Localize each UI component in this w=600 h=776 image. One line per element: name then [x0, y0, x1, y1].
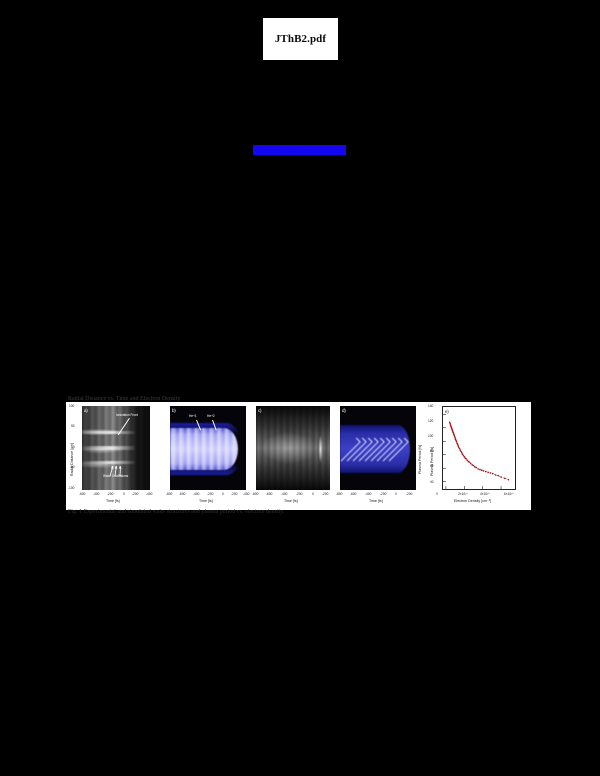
figure-caption: Fig. 1 Experimental and simulated wake s… [68, 509, 530, 516]
panel-a-ytick-2: 0 [73, 445, 75, 449]
panel-c-xtick-2: -400 [281, 492, 287, 496]
scatter-point [495, 474, 497, 476]
panel-c-plot: c) [256, 406, 330, 490]
panel-c-xtick-3: -200 [296, 492, 302, 496]
panel-e-ytick-80: 80 [430, 449, 434, 453]
panel-e-xtick-1: 2×10¹⁸ [458, 492, 468, 496]
panel-a-xlabel: Time [fs] [106, 499, 120, 503]
panel-b-xtick-3: -200 [207, 492, 213, 496]
panel-a-plot: Ionization Front Wake Oscillations Texp.… [82, 406, 150, 490]
panel-e-xtick-2: 4×10¹⁸ [480, 492, 490, 496]
panel-a-xtick-0: -600 [79, 492, 85, 496]
panel-e-xlabel: Electron Density [cm⁻³] [454, 499, 491, 503]
panel-c-xtick-4: 0 [312, 492, 314, 496]
panel-d-xtick-2: -400 [365, 492, 371, 496]
panel-c-xtick-5: -200 [322, 492, 328, 496]
panel-b-xtick-1: -600 [179, 492, 185, 496]
panel-d-xtick-0: -800 [336, 492, 342, 496]
ionization-front-pointer [118, 418, 141, 442]
panel-b-tag: b) [172, 408, 176, 413]
panel-a-xtick-2: -200 [107, 492, 113, 496]
panel-b-xtick-0: -800 [166, 492, 172, 496]
panel-c-tag: c) [258, 408, 261, 413]
panel-d-xtick-4: 0 [395, 492, 397, 496]
figure-panel-a: Ionization Front Wake Oscillations Texp.… [66, 402, 166, 510]
panel-b-xtick-4: 0 [222, 492, 224, 496]
panel-b-xtick-5: -200 [231, 492, 237, 496]
scatter-series-layer [443, 407, 515, 489]
panel-b-xtick-2: -400 [193, 492, 199, 496]
panel-a-tag: a) [84, 408, 88, 413]
hyperlink-label: www.example-link.ch [253, 145, 346, 155]
scatter-point [497, 475, 499, 477]
panel-d-xlabel: Time [fs] [369, 499, 383, 503]
figure-strip: Ionization Front Wake Oscillations Texp.… [66, 402, 531, 510]
panel-b-plot: He+1 He+2 b) [170, 406, 246, 490]
panel-e-xtick-0: 0 [436, 492, 438, 496]
panel-a-ytick-4: -100 [68, 486, 74, 490]
panel-a-xtick-5: -400 [146, 492, 152, 496]
panel-b-xlabel: Time [fs] [199, 499, 213, 503]
panel-e-ytick-120: 120 [428, 419, 433, 423]
panel-d-xtick-1: -600 [350, 492, 356, 496]
panel-a-xtick-1: -400 [93, 492, 99, 496]
annotation-he-plus-2: He+2 [207, 414, 215, 418]
page-title: JThB2.pdf [275, 33, 326, 45]
panel-a-ytick-1: 50 [71, 424, 75, 428]
figure-panel-b: He+1 He+2 b) -800 -600 -400 -200 0 -200 … [166, 402, 252, 510]
panel-e-plot: e) [442, 406, 516, 490]
figure-panel-c: c) -800 -600 -400 -200 0 -200 Time [fs] [252, 402, 336, 510]
panel-e-ytick-60: 60 [430, 464, 434, 468]
panel-d-tag: d) [342, 408, 346, 413]
panel-d-xtick-5: -200 [406, 492, 412, 496]
annotation-he-plus-1: He+1 [189, 414, 197, 418]
annotation-wake-oscillations: Wake Oscillations [103, 474, 128, 478]
panel-e-ytick-100: 100 [428, 434, 433, 438]
panel-a-ytick-3: -50 [70, 465, 75, 469]
figure-panel-d: d) Plasma Period [fs] -800 -600 -400 -20… [336, 402, 422, 510]
panel-e-ytick-40: 40 [430, 480, 434, 484]
figure-panel-e: e) Plasma Period [fs] 140 120 100 80 60 … [422, 402, 531, 510]
annotation-ionization-front: Ionization Front [116, 413, 138, 417]
panel-a-xtick-3: 0 [123, 492, 125, 496]
hyperlink[interactable]: www.example-link.ch [253, 145, 346, 155]
panel-d-plot: d) [340, 406, 416, 490]
panel-b-xtick-6: -400 [243, 492, 249, 496]
panel-c-xtick-1: -600 [266, 492, 272, 496]
panel-d-xtick-3: -200 [380, 492, 386, 496]
panel-a-xtick-4: -200 [132, 492, 138, 496]
panel-e-xtick-3: 6×10¹⁸ [504, 492, 514, 496]
panel-e-ytick-140: 140 [428, 404, 433, 408]
document-title-box: JThB2.pdf [263, 18, 338, 60]
wake-arrow-group [108, 463, 126, 474]
panel-a-ytick-0: 100 [69, 404, 74, 408]
panel-c-xlabel: Time [fs] [284, 499, 298, 503]
panel-e-tag: e) [445, 409, 449, 414]
panel-c-xtick-0: -800 [252, 492, 258, 496]
scatter-trend-line [450, 422, 509, 479]
